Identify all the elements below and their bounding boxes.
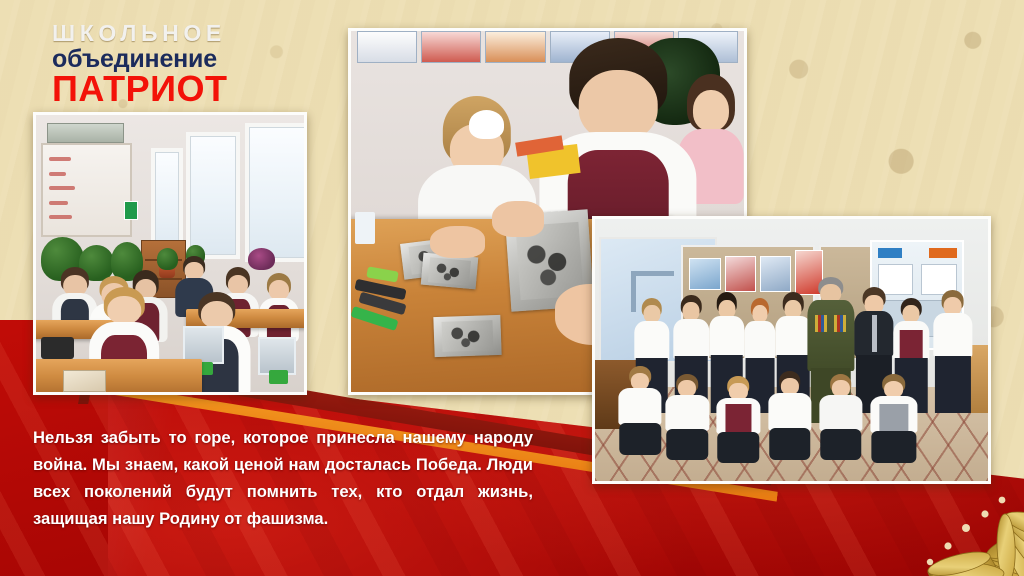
photo-classroom — [33, 112, 307, 395]
logo-block: ШКОЛЬНОЕ объединение ПАТРИОТ — [52, 22, 312, 108]
body-paragraph: Нельзя забыть то горе, которое принесла … — [33, 425, 533, 533]
presentation-slide: ШКОЛЬНОЕ объединение ПАТРИОТ — [0, 0, 1024, 576]
logo-line-patriot: ПАТРИОТ — [52, 71, 312, 108]
logo-line-shkolnoe: ШКОЛЬНОЕ — [52, 22, 312, 45]
photo-veteran-group — [592, 216, 991, 484]
slide-body-text: Нельзя забыть то горе, которое принесла … — [33, 425, 533, 533]
